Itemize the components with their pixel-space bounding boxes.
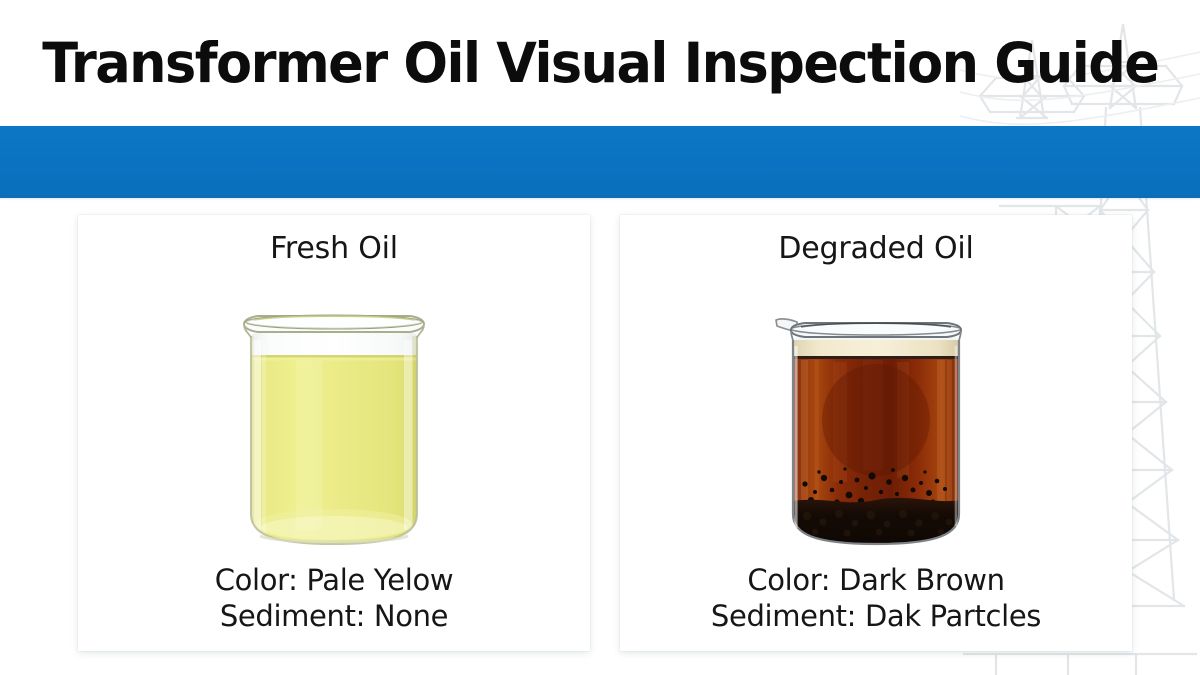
title-bar: Transformer Oil Visual Inspection Guide	[0, 0, 1200, 126]
comparison-cards: Fresh Oil	[0, 215, 1200, 651]
accent-band	[0, 126, 1200, 198]
page-title: Transformer Oil Visual Inspection Guide	[42, 36, 1158, 91]
beaker-degraded-oil-icon	[771, 302, 981, 552]
card-footer-degraded: Color: Dark Brown Sediment: Dak Partcles	[620, 562, 1132, 651]
card-heading-fresh: Fresh Oil	[270, 234, 398, 264]
spec-color-degraded: Color: Dark Brown	[620, 562, 1132, 599]
card-heading-degraded: Degraded Oil	[778, 234, 973, 264]
card-fresh-oil[interactable]: Fresh Oil	[78, 215, 590, 651]
spec-sediment-fresh: Sediment: None	[78, 598, 590, 635]
slide-canvas: Transformer Oil Visual Inspection Guide …	[0, 0, 1200, 675]
card-footer-fresh: Color: Pale Yelow Sediment: None	[78, 562, 590, 651]
beaker-stage-degraded	[620, 264, 1132, 562]
spec-sediment-degraded: Sediment: Dak Partcles	[620, 598, 1132, 635]
beaker-stage-fresh	[78, 264, 590, 562]
beaker-fresh-oil-icon	[236, 300, 432, 552]
card-degraded-oil[interactable]: Degraded Oil	[620, 215, 1132, 651]
spec-color-fresh: Color: Pale Yelow	[78, 562, 590, 599]
